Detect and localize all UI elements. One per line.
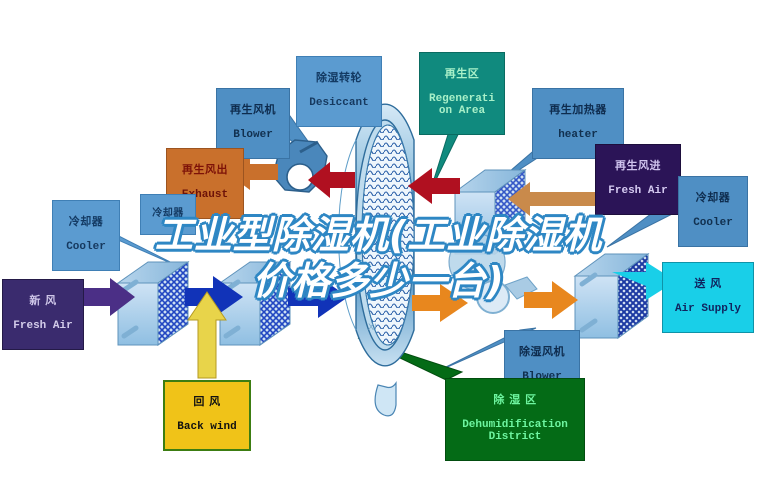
flow-regen-hot [408, 168, 460, 204]
svg-text:XI: XI [368, 322, 377, 332]
label-regeneration-fresh-air[interactable]: 再生风进 Fresh Air [595, 144, 681, 215]
label-regeneration-blower-en: Blower [219, 129, 287, 141]
label-dehumidification-blower-cn: 除湿风机 [507, 346, 577, 358]
label-regeneration-blower-cn: 再生风机 [219, 104, 287, 116]
label-cooler-left-cn: 冷却器 [55, 216, 117, 228]
label-air-supply-cn: 送 风 [665, 278, 751, 290]
label-desiccant-wheel[interactable]: 除湿转轮 Desiccant [296, 56, 382, 127]
label-regeneration-heater-en: heater [535, 129, 621, 141]
label-regeneration-fresh-air-en: Fresh Air [598, 185, 678, 197]
cooler-coil-3 [575, 254, 648, 338]
desiccant-rotor: XI [339, 104, 414, 416]
label-fresh-air[interactable]: 新 风 Fresh Air [2, 279, 84, 350]
label-air-supply[interactable]: 送 风 Air Supply [662, 262, 754, 333]
label-fresh-air-cn: 新 风 [5, 295, 81, 307]
label-regeneration-heater-cn: 再生加热器 [535, 104, 621, 116]
label-fresh-air-en: Fresh Air [5, 320, 81, 332]
cooler-coil-1 [118, 262, 188, 345]
condensate-drain [375, 383, 396, 416]
label-cooler-right-en: Cooler [681, 217, 745, 229]
label-cooler-right[interactable]: 冷却器 Cooler [678, 176, 748, 247]
dehumidifier-schematic-diagram: XI [0, 0, 757, 488]
label-dehumidification-district-en: Dehumidification District [448, 419, 582, 444]
label-dehumidification-district[interactable]: 除 湿 区 Dehumidification District [445, 378, 585, 461]
label-dehumidification-district-cn: 除 湿 区 [448, 394, 582, 406]
label-air-supply-en: Air Supply [665, 303, 751, 315]
label-exhaust-cn: 再生风出 [169, 164, 241, 176]
label-cooler-mid[interactable]: 冷却器 [140, 194, 196, 235]
label-regeneration-area[interactable]: 再生区 Regenerati on Area [419, 52, 505, 135]
label-cooler-left-en: Cooler [55, 241, 117, 253]
label-back-wind-en: Back wind [167, 421, 247, 433]
label-back-wind-cn: 回 风 [167, 396, 247, 408]
flow-process-out [412, 284, 468, 322]
label-regeneration-area-cn: 再生区 [422, 68, 502, 80]
label-cooler-left[interactable]: 冷却器 Cooler [52, 200, 120, 271]
label-cooler-mid-cn: 冷却器 [143, 208, 193, 219]
label-back-wind[interactable]: 回 风 Back wind [163, 380, 251, 451]
flow-cooled-air-2 [288, 276, 348, 318]
label-cooler-right-cn: 冷却器 [681, 192, 745, 204]
label-regeneration-area-en: Regenerati on Area [422, 93, 502, 118]
label-regeneration-fresh-air-cn: 再生风进 [598, 160, 678, 172]
label-desiccant-wheel-en: Desiccant [299, 97, 379, 109]
label-desiccant-wheel-cn: 除湿转轮 [299, 72, 379, 84]
